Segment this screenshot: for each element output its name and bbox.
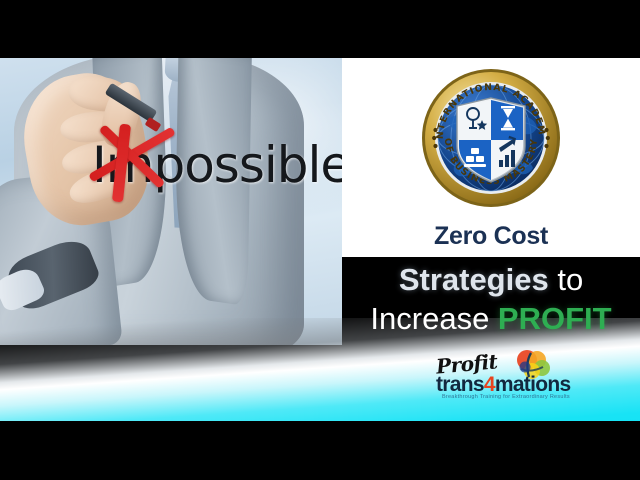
video-slide: Impossible <box>0 0 640 480</box>
profit-transformations-logo: Profit trans4mations Breakthrough Traini… <box>432 349 602 407</box>
red-cross-out-mark <box>86 118 172 192</box>
kicker-zero-cost: Zero Cost <box>342 222 640 251</box>
headline-strategies: Strategies <box>399 262 549 297</box>
headline-line-1: Strategies to <box>342 260 640 299</box>
logo-mations-part: mations <box>495 373 571 396</box>
logo-tagline: Breakthrough Training for Extraordinary … <box>442 394 570 400</box>
impossible-photo: Impossible <box>0 58 342 345</box>
academy-seal-icon: INTERNATIONAL ACADEMY OF BUSINESS MASTER… <box>421 68 561 208</box>
letterbox-top-bar <box>0 0 640 58</box>
logo-trans-part: trans <box>436 373 484 396</box>
logo-four: 4 <box>484 373 495 396</box>
academy-emblem: INTERNATIONAL ACADEMY OF BUSINESS MASTER… <box>421 68 561 208</box>
letterbox-bottom-bar <box>0 421 640 480</box>
headline-line-2: Increase PROFIT <box>342 299 640 338</box>
headline-to: to <box>549 262 583 297</box>
headline-block: Strategies to Increase PROFIT <box>342 260 640 338</box>
headline-profit: PROFIT <box>498 301 612 336</box>
headline-increase: Increase <box>370 301 498 336</box>
